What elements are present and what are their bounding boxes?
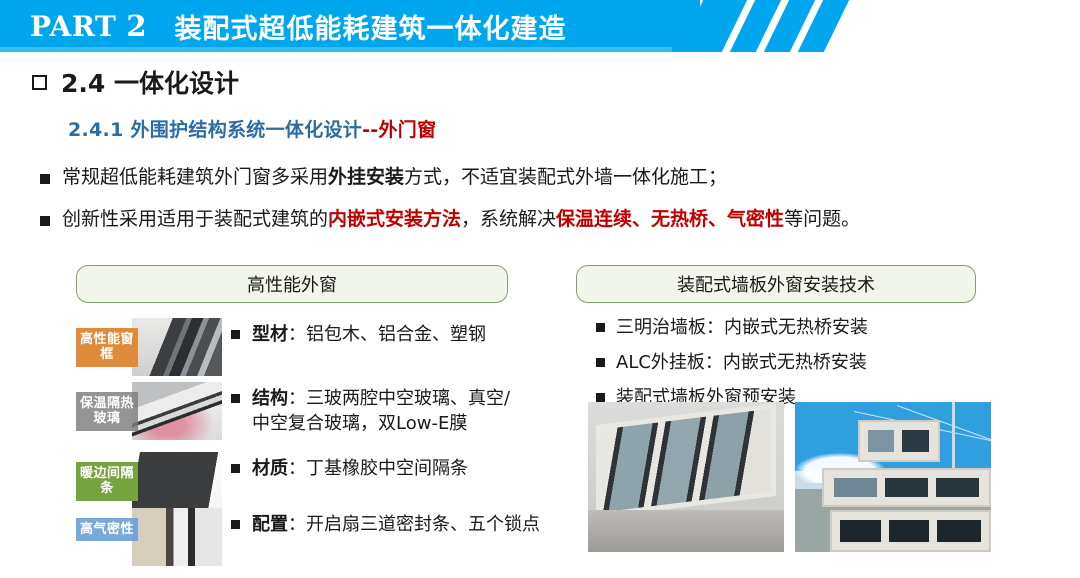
precast-panel-with-windows-photo [588, 402, 784, 552]
facade-window [889, 520, 930, 541]
left-panel-header-text: 高性能外窗 [247, 271, 337, 297]
banner-part-number: 2 [126, 9, 146, 43]
left-item-2-label: 结构 [252, 388, 288, 409]
left-item-3-sep: ： [288, 458, 306, 479]
facade-window [885, 478, 928, 498]
left-item-2-lines: 结构：三玻两腔中空玻璃、真空/中空复合玻璃，双Low-E膜 [252, 386, 510, 436]
left-item-1-text: 型材：铝包木、铝合金、塑钢 [231, 322, 486, 347]
badge-warm-edge-spacer: 暖边间隔条 [76, 462, 138, 501]
bullet-1-part-2: 方式，不适宜装配式外墙一体化施工； [404, 166, 727, 188]
subsection-heading-text: 2.4.1 外围护结构系统一体化设计 [68, 119, 362, 141]
subsection-dash: -- [362, 119, 378, 141]
left-item-4-value: 开启扇三道密封条、五个锁点 [306, 514, 540, 535]
left-item-4-line: 配置：开启扇三道密封条、五个锁点 [252, 512, 540, 537]
banner-diagonal-stripes [690, 0, 880, 52]
facade-window [937, 520, 981, 541]
window-frame-photo [132, 318, 222, 376]
section-heading: 2.4 一体化设计 [32, 64, 239, 100]
facade-window [840, 520, 881, 541]
badge-air-tightness: 高气密性 [76, 518, 138, 541]
body-bullet-1: 常规超低能耗建筑外门窗多采用外挂安装方式，不适宜装配式外墙一体化施工； [40, 165, 727, 191]
body-bullet-2-text: 创新性采用适用于装配式建筑的内嵌式安装方法，系统解决保温连续、无热桥、气密性等问… [62, 207, 860, 233]
square-bullet-icon [596, 323, 605, 332]
left-item-3-label: 材质 [252, 458, 288, 479]
bullet-2-red-2: 保温连续、无热桥、气密性 [556, 208, 784, 230]
bullet-2-part-2: ，系统解决 [461, 208, 556, 230]
banner-title: PART 2 装配式超低能耗建筑一体化建造 [30, 3, 567, 49]
square-bullet-icon [231, 464, 240, 473]
header-banner: PART 2 装配式超低能耗建筑一体化建造 [0, 0, 1080, 52]
body-bullet-1-text: 常规超低能耗建筑外门窗多采用外挂安装方式，不适宜装配式外墙一体化施工； [62, 165, 727, 191]
banner-title-chinese: 装配式超低能耗建筑一体化建造 [175, 7, 567, 46]
right-panel-header: 装配式墙板外窗安装技术 [576, 265, 976, 303]
square-bullet-icon [231, 330, 240, 339]
facade-window [834, 478, 877, 498]
square-bullet-icon [40, 174, 50, 184]
air-tightness-hardware-photo [132, 508, 222, 566]
facade-storey-bottom [830, 510, 991, 552]
square-outline-bullet-icon [32, 75, 47, 90]
left-item-1-label: 型材 [252, 324, 288, 345]
square-bullet-icon [231, 520, 240, 529]
building-facade-windows-photo [795, 402, 991, 552]
square-bullet-icon [596, 358, 605, 367]
facade-window [902, 430, 929, 451]
right-bullet-2-text: ALC外挂板：内嵌式无热桥安装 [616, 350, 867, 376]
right-bullet-1-text: 三明治墙板：内嵌式无热桥安装 [616, 315, 868, 341]
badge-insulating-glass: 保温隔热玻璃 [76, 392, 138, 431]
bullet-1-bold: 外挂安装 [328, 166, 404, 188]
subsection-heading: 2.4.1 外围护结构系统一体化设计--外门窗 [68, 115, 436, 142]
bullet-2-part-1: 创新性采用适用于装配式建筑的 [62, 208, 328, 230]
left-item-4-sep: ： [288, 514, 306, 535]
left-item-3-line: 材质：丁基橡胶中空间隔条 [252, 456, 468, 481]
left-item-2-text: 结构：三玻两腔中空玻璃、真空/中空复合玻璃，双Low-E膜 [231, 386, 510, 436]
badge-high-performance-frame: 高性能窗框 [76, 328, 138, 367]
left-item-4-text: 配置：开启扇三道密封条、五个锁点 [231, 512, 540, 537]
facade-storey-top [858, 420, 940, 462]
facade-window [936, 478, 979, 498]
left-item-1-sep: ： [288, 324, 306, 345]
facade-storey-middle [822, 468, 991, 507]
body-bullet-2: 创新性采用适用于装配式建筑的内嵌式安装方法，系统解决保温连续、无热桥、气密性等问… [40, 207, 860, 233]
bullet-1-part-1: 常规超低能耗建筑外门窗多采用 [62, 166, 328, 188]
banner-part-word: PART [30, 10, 116, 43]
left-item-2-value: 三玻两腔中空玻璃、真空/ [306, 388, 510, 409]
left-item-4-label: 配置 [252, 514, 288, 535]
left-item-1-line: 型材：铝包木、铝合金、塑钢 [252, 322, 486, 347]
right-bullet-1: 三明治墙板：内嵌式无热桥安装 [596, 315, 868, 341]
facade-window [868, 430, 895, 451]
right-panel-header-text: 装配式墙板外窗安装技术 [677, 271, 875, 297]
section-heading-text: 2.4 一体化设计 [61, 64, 239, 100]
left-item-3-value: 丁基橡胶中空间隔条 [306, 458, 468, 479]
warm-edge-spacer-photo [132, 452, 222, 510]
left-item-3-text: 材质：丁基橡胶中空间隔条 [231, 456, 468, 481]
square-bullet-icon [40, 216, 50, 226]
left-item-1-value: 铝包木、铝合金、塑钢 [306, 324, 486, 345]
left-item-2-sep: ： [288, 388, 306, 409]
square-bullet-icon [231, 394, 240, 403]
right-bullet-2: ALC外挂板：内嵌式无热桥安装 [596, 350, 868, 376]
left-item-2-value-line2: 中空复合玻璃，双Low-E膜 [252, 413, 467, 434]
bullet-2-part-3: 等问题。 [784, 208, 860, 230]
subsection-highlight: 外门窗 [379, 119, 437, 141]
insulating-glass-photo [132, 382, 222, 440]
bullet-2-red-1: 内嵌式安装方法 [328, 208, 461, 230]
left-panel-header: 高性能外窗 [76, 265, 508, 303]
square-bullet-icon [596, 393, 605, 402]
